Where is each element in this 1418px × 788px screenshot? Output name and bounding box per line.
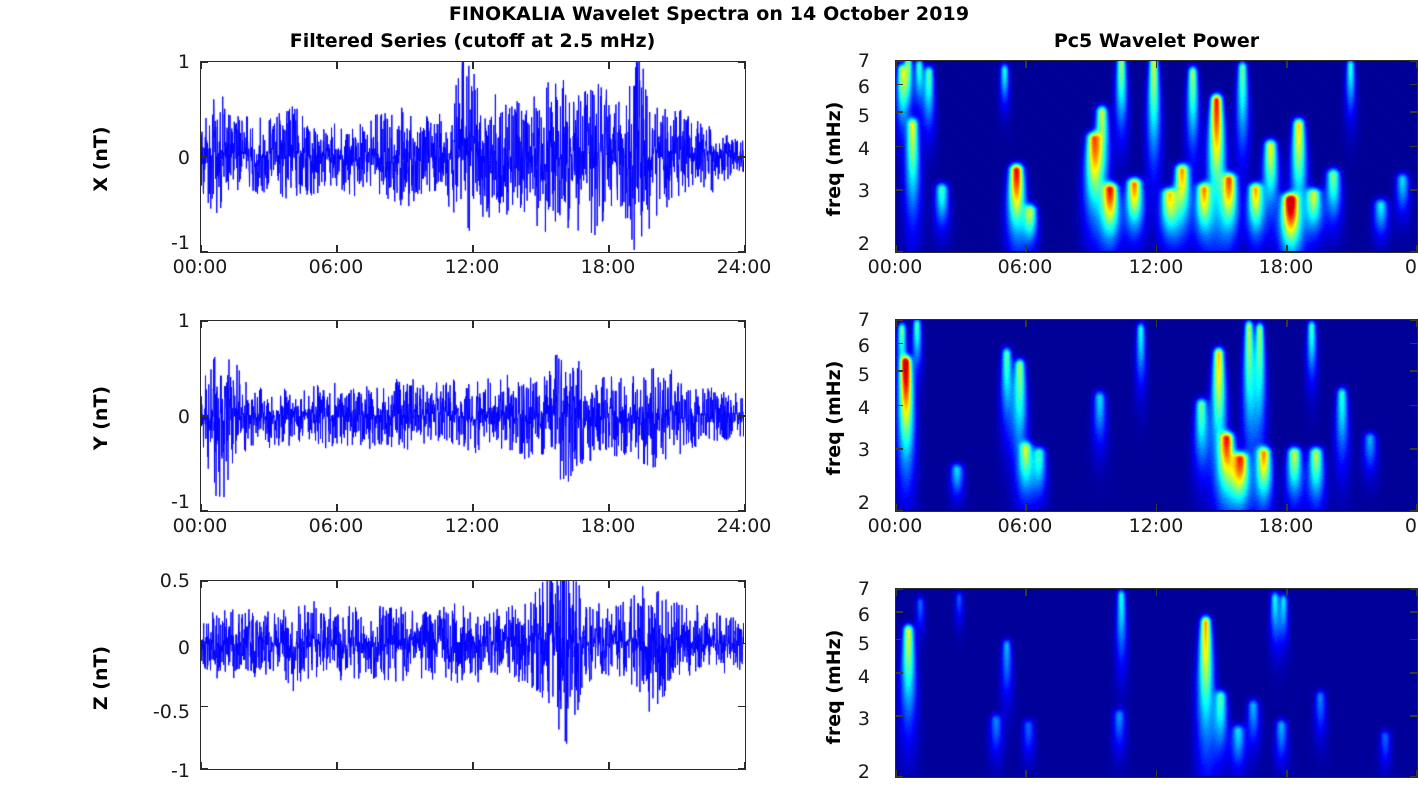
xtick xyxy=(1156,61,1158,68)
ytick xyxy=(738,643,745,645)
x-spec-ytick-6: 6 xyxy=(806,76,870,98)
xtick xyxy=(336,504,338,511)
z-spec-ytick-3: 3 xyxy=(806,708,870,730)
ytick xyxy=(896,343,903,345)
xtick xyxy=(744,62,746,69)
xtick xyxy=(608,762,610,769)
y-spec-ytick-3: 3 xyxy=(806,439,870,461)
right-column-title: Pc5 Wavelet Power xyxy=(895,30,1418,52)
xtick xyxy=(472,62,474,69)
panel-y-wavelet-power xyxy=(895,319,1418,512)
y-series-ytick-1: 1 xyxy=(126,310,190,332)
ytick xyxy=(1410,84,1417,86)
ytick xyxy=(896,611,903,613)
ytick xyxy=(896,510,903,512)
left-column-title: Filtered Series (cutoff at 2.5 mHz) xyxy=(200,30,745,52)
panel-x-filtered-series xyxy=(200,61,746,253)
xtick xyxy=(200,581,202,588)
xtick xyxy=(608,321,610,328)
xtick xyxy=(1025,589,1027,596)
xtick xyxy=(608,504,610,511)
ytick xyxy=(738,320,745,322)
y-spec-ytick-7: 7 xyxy=(806,309,870,331)
xtick xyxy=(895,589,897,596)
xtick xyxy=(336,762,338,769)
ytick xyxy=(738,415,745,417)
x-spec-ytick-2: 2 xyxy=(806,233,870,255)
ytick xyxy=(896,588,903,590)
panel-z-wavelet-power xyxy=(895,588,1418,778)
ytick xyxy=(738,768,745,770)
ytick xyxy=(1410,715,1417,717)
y-spec-ytick-5: 5 xyxy=(806,364,870,386)
ytick xyxy=(201,415,208,417)
y-spec-xtick-2: 12:00 xyxy=(1111,515,1201,537)
ytick xyxy=(896,146,903,148)
xtick xyxy=(1156,320,1158,327)
ytick xyxy=(1410,146,1417,148)
ytick xyxy=(896,776,903,778)
z-series-ytick-m1: -1 xyxy=(106,760,190,782)
ytick xyxy=(896,319,903,321)
ytick xyxy=(896,111,903,113)
ytick xyxy=(896,251,903,253)
xtick xyxy=(1156,589,1158,596)
panel-y-filtered-series xyxy=(200,320,746,512)
xtick xyxy=(608,62,610,69)
y-series-ytick-m1: -1 xyxy=(126,491,190,513)
ytick xyxy=(1410,776,1417,778)
y-series-xtick-4: 24:00 xyxy=(699,515,789,537)
z-series-ytick-0: 0 xyxy=(106,637,190,659)
xtick xyxy=(895,320,897,327)
xtick xyxy=(336,62,338,69)
z-series-trace xyxy=(201,581,744,768)
xtick xyxy=(895,61,897,68)
xtick xyxy=(336,245,338,252)
z-spectrogram xyxy=(896,589,1416,776)
ytick xyxy=(201,580,208,582)
x-series-xtick-2: 12:00 xyxy=(427,256,517,278)
xtick xyxy=(1286,589,1288,596)
xtick xyxy=(1156,770,1158,777)
xtick xyxy=(1025,770,1027,777)
ytick xyxy=(201,320,208,322)
x-spec-ytick-4: 4 xyxy=(806,138,870,160)
ytick xyxy=(896,84,903,86)
xtick xyxy=(1286,504,1288,511)
y-spec-xtick-0: 00:00 xyxy=(850,515,940,537)
y-spec-xtick-4: 00 xyxy=(1372,515,1418,537)
z-spec-ytick-6: 6 xyxy=(806,604,870,626)
y-series-ylabel: Y (nT) xyxy=(90,358,112,478)
xtick xyxy=(1286,320,1288,327)
x-spec-xtick-3: 18:00 xyxy=(1241,256,1331,278)
x-series-xtick-4: 24:00 xyxy=(699,256,789,278)
panel-x-wavelet-power xyxy=(895,60,1418,253)
y-spec-xtick-3: 18:00 xyxy=(1241,515,1331,537)
figure-title: FINOKALIA Wavelet Spectra on 14 October … xyxy=(0,3,1418,25)
xtick xyxy=(472,245,474,252)
z-spec-ytick-5: 5 xyxy=(806,633,870,655)
ytick xyxy=(1410,60,1417,62)
xtick xyxy=(1286,770,1288,777)
x-spec-ytick-3: 3 xyxy=(806,180,870,202)
y-spectrogram xyxy=(896,320,1416,510)
xtick xyxy=(1286,61,1288,68)
y-series-xtick-2: 12:00 xyxy=(427,515,517,537)
ytick xyxy=(201,61,208,63)
xtick xyxy=(472,762,474,769)
y-spec-ytick-4: 4 xyxy=(806,397,870,419)
xtick xyxy=(744,581,746,588)
xtick xyxy=(200,321,202,328)
ytick xyxy=(201,706,208,708)
ytick xyxy=(1410,588,1417,590)
xtick xyxy=(608,245,610,252)
ytick xyxy=(738,61,745,63)
ytick xyxy=(738,156,745,158)
xtick xyxy=(336,581,338,588)
xtick xyxy=(1156,504,1158,511)
ytick xyxy=(1410,405,1417,407)
y-series-xtick-3: 18:00 xyxy=(563,515,653,537)
ytick xyxy=(896,405,903,407)
ytick xyxy=(201,643,208,645)
z-spec-ytick-2: 2 xyxy=(806,761,870,783)
x-spec-xtick-0: 00:00 xyxy=(850,256,940,278)
ytick xyxy=(738,510,745,512)
xtick xyxy=(472,581,474,588)
ytick xyxy=(896,189,903,191)
ytick xyxy=(201,510,208,512)
x-series-xtick-1: 06:00 xyxy=(291,256,381,278)
y-spec-ytick-6: 6 xyxy=(806,335,870,357)
ytick xyxy=(896,639,903,641)
x-spec-ytick-5: 5 xyxy=(806,105,870,127)
ytick xyxy=(1410,611,1417,613)
ytick xyxy=(1410,189,1417,191)
y-spec-ytick-2: 2 xyxy=(806,492,870,514)
ytick xyxy=(1410,510,1417,512)
xtick xyxy=(336,321,338,328)
x-spec-ytick-7: 7 xyxy=(806,50,870,72)
y-series-ytick-0: 0 xyxy=(126,406,190,428)
ytick xyxy=(896,448,903,450)
x-series-ytick-m1: -1 xyxy=(126,232,190,254)
x-series-xtick-0: 00:00 xyxy=(155,256,245,278)
xtick xyxy=(472,321,474,328)
x-series-trace xyxy=(201,62,744,251)
x-series-ytick-0: 0 xyxy=(126,147,190,169)
y-series-trace xyxy=(201,321,744,510)
ytick xyxy=(201,768,208,770)
x-series-xtick-3: 18:00 xyxy=(563,256,653,278)
ytick xyxy=(1410,639,1417,641)
ytick xyxy=(1410,448,1417,450)
ytick xyxy=(738,251,745,253)
ytick xyxy=(1410,370,1417,372)
z-series-ytick-05: 0.5 xyxy=(106,570,190,592)
x-spec-xtick-1: 06:00 xyxy=(980,256,1070,278)
xtick xyxy=(1156,245,1158,252)
ytick xyxy=(1410,319,1417,321)
x-series-ylabel: X (nT) xyxy=(90,99,112,219)
ytick xyxy=(201,156,208,158)
x-spec-xtick-4: 00 xyxy=(1372,256,1418,278)
ytick xyxy=(1410,672,1417,674)
xtick xyxy=(1025,320,1027,327)
ytick xyxy=(896,672,903,674)
ytick xyxy=(896,715,903,717)
ytick xyxy=(1410,111,1417,113)
ytick xyxy=(201,251,208,253)
xtick xyxy=(1025,504,1027,511)
ytick xyxy=(738,580,745,582)
y-series-xtick-0: 00:00 xyxy=(155,515,245,537)
x-series-ytick-1: 1 xyxy=(126,51,190,73)
figure-canvas: FINOKALIA Wavelet Spectra on 14 October … xyxy=(0,0,1418,788)
z-spec-ytick-7: 7 xyxy=(806,578,870,600)
x-spectrogram xyxy=(896,61,1416,251)
ytick xyxy=(1410,251,1417,253)
xtick xyxy=(1025,245,1027,252)
xtick xyxy=(744,321,746,328)
ytick xyxy=(896,60,903,62)
ytick xyxy=(896,370,903,372)
xtick xyxy=(1286,245,1288,252)
z-spec-ytick-4: 4 xyxy=(806,666,870,688)
xtick xyxy=(200,62,202,69)
xtick xyxy=(608,581,610,588)
xtick xyxy=(1025,61,1027,68)
y-series-xtick-1: 06:00 xyxy=(291,515,381,537)
panel-z-filtered-series xyxy=(200,580,746,770)
ytick xyxy=(738,706,745,708)
z-series-ytick-m05: -0.5 xyxy=(106,701,190,723)
x-spec-xtick-2: 12:00 xyxy=(1111,256,1201,278)
y-spec-xtick-1: 06:00 xyxy=(980,515,1070,537)
ytick xyxy=(1410,343,1417,345)
xtick xyxy=(472,504,474,511)
